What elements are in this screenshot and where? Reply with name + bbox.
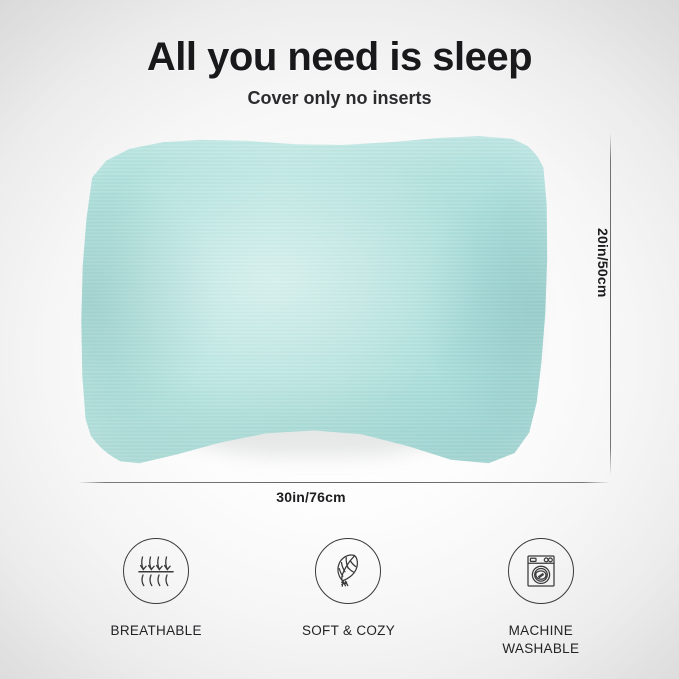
feather-icon	[315, 538, 381, 604]
height-dimension-label: 20in/50cm	[595, 228, 611, 298]
breathable-airflow-icon	[123, 538, 189, 604]
page-title: All you need is sleep	[0, 35, 679, 80]
pillow-image	[78, 130, 550, 470]
width-dimension-line	[78, 482, 610, 483]
width-dimension-label: 30in/76cm	[0, 489, 622, 505]
feature-label: MACHINE WASHABLE	[502, 622, 579, 658]
height-dimension-line	[610, 133, 611, 475]
feature-label: SOFT & COZY	[302, 622, 395, 640]
pillow-body	[78, 130, 550, 470]
washing-machine-icon	[508, 538, 574, 604]
page-subtitle: Cover only no inserts	[0, 88, 679, 109]
feature-label: BREATHABLE	[111, 622, 202, 640]
feature-breathable: BREATHABLE	[60, 538, 252, 640]
feature-soft-cozy: SOFT & COZY	[252, 538, 444, 640]
feature-row: BREATHABLE SOFT & C	[60, 538, 637, 658]
product-infographic: All you need is sleep Cover only no inse…	[0, 0, 679, 679]
feature-machine-washable: MACHINE WASHABLE	[445, 538, 637, 658]
pillow-shading	[78, 130, 550, 470]
